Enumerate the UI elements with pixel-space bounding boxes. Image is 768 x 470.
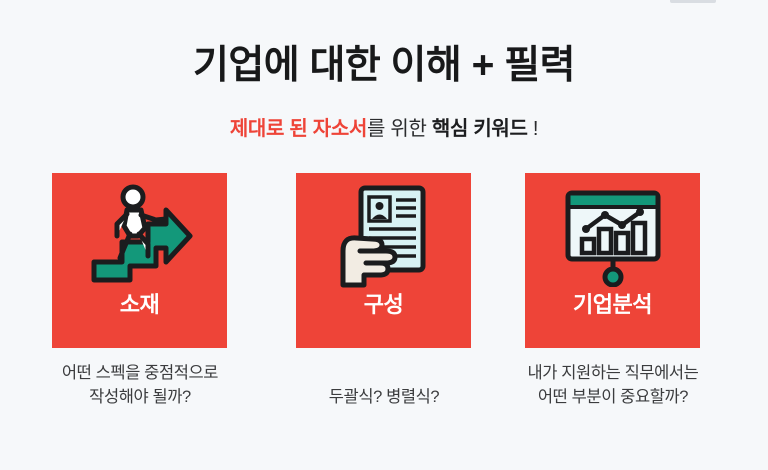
subtitle-strong-text: 핵심 키워드 — [432, 118, 528, 140]
keyword-card-structure[interactable]: 구성 — [296, 173, 471, 348]
card-label-company-analysis: 기업분석 — [573, 294, 652, 316]
keyword-card-row: 소재 — [52, 173, 700, 348]
card-label-material: 소재 — [120, 294, 159, 316]
caption-material: 어떤 스펙을 중점적으로 작성해야 될까? — [10, 362, 270, 410]
page-title: 기업에 대한 이해 + 필력 — [0, 44, 768, 88]
subtitle-end-text: ! — [528, 118, 539, 140]
hand-holding-resume-icon — [296, 173, 471, 298]
caption-row: 어떤 스펙을 중점적으로 작성해야 될까? 두괄식? 병렬식? 내가 지원하는 … — [0, 362, 768, 432]
presentation-chart-board-icon — [525, 173, 700, 298]
subtitle-accent-text: 제대로 된 자소서 — [230, 118, 367, 140]
caption-company-analysis: 내가 지원하는 직무에서는 어떤 부분이 중요할까? — [483, 362, 743, 410]
caption-company-line2: 어떤 부분이 중요할까? — [483, 386, 743, 410]
top-edge-marker — [670, 0, 716, 3]
card-label-structure: 구성 — [364, 294, 403, 316]
caption-material-line1: 어떤 스펙을 중점적으로 — [10, 362, 270, 386]
caption-structure-line1: 두괄식? 병렬식? — [254, 386, 514, 410]
keyword-card-company-analysis[interactable]: 기업분석 — [525, 173, 700, 348]
caption-company-line1: 내가 지원하는 직무에서는 — [483, 362, 743, 386]
person-climbing-stairs-arrow-icon — [52, 173, 227, 298]
caption-structure: 두괄식? 병렬식? — [254, 386, 514, 410]
keyword-card-material[interactable]: 소재 — [52, 173, 227, 348]
page-subtitle: 제대로 된 자소서를 위한 핵심 키워드 ! — [0, 116, 768, 142]
caption-material-line2: 작성해야 될까? — [10, 386, 270, 410]
subtitle-mid-text: 를 위한 — [367, 118, 432, 140]
